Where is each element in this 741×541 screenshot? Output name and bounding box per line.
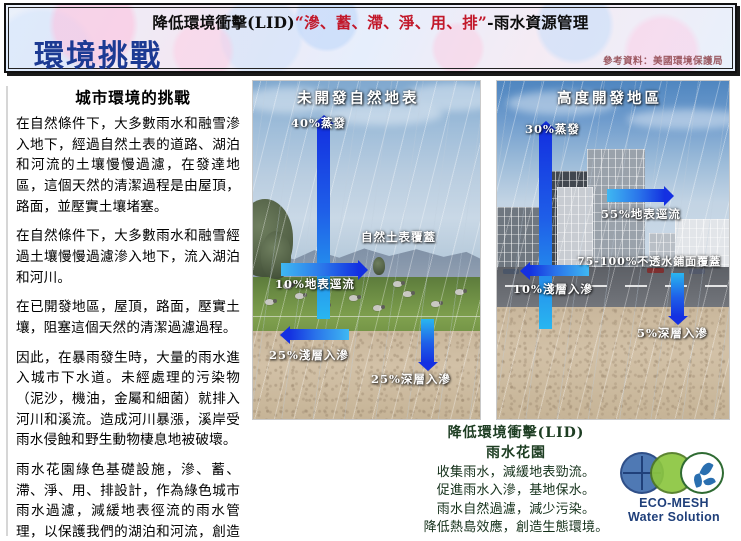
caption-heading-1: 降低環境衝擊(LID)	[398, 424, 634, 444]
surface-runoff-arrow	[607, 189, 665, 202]
panel-highly-developed-area: 高度開發地區 30%蒸發 75-100%不透水鋪面覆蓋 55%地表逕流 10%淺…	[496, 80, 730, 420]
logo-name-line-1: ECO-MESH	[615, 496, 733, 510]
caption-line: 雨水自然過濾，減少污染。	[398, 501, 634, 519]
deep-infiltration-arrow	[671, 273, 684, 317]
fence-line	[253, 316, 480, 317]
header-title: 降低環境衝擊(LID)“滲、蓄、滯、淨、用、排”-雨水資源管理	[6, 11, 735, 33]
source-note: 參考資料：美國環境保護局	[603, 53, 723, 67]
sheep	[403, 291, 412, 297]
sheep	[431, 301, 440, 307]
cloud	[627, 109, 730, 129]
logo-leaf-icon	[703, 476, 716, 487]
sheep	[455, 289, 464, 295]
caption-block: 降低環境衝擊(LID) 雨水花園 收集雨水，減緩地表勁流。 促進雨水入滲，基地保…	[398, 424, 634, 538]
header-title-part1: 降低環境衝擊(LID)	[152, 13, 295, 32]
car	[503, 269, 519, 274]
paragraph: 雨水花園綠色基礎設施，滲、蓄、滯、淨、用、排設計，作為綠色城市雨水過濾，減緩地表…	[16, 460, 240, 541]
caption-line: 促進雨水入滲，基地保水。	[398, 482, 634, 500]
lane-marking	[625, 285, 647, 287]
paragraph: 在已開發地區，屋頂，路面，壓實土壤，阻塞這個天然的清潔過濾過程。	[16, 297, 240, 338]
sheep	[265, 299, 274, 305]
caption-heading-2: 雨水花園	[398, 444, 634, 464]
header-subtitle: 環境挑戰	[34, 31, 162, 73]
left-column-heading: 城市環境的挑戰	[26, 86, 240, 108]
panel-left-ground-cover-label: 自然土表覆蓋	[361, 229, 436, 245]
left-text-column: 城市環境的挑戰 在自然條件下，大多數雨水和融雪滲入地下，經過自然土表的道路、湖泊…	[6, 86, 240, 536]
panel-undeveloped-natural-ground: 未開發自然地表 40%蒸發 自然土表覆蓋 10%地表逕流 25%淺層入滲 25%…	[252, 80, 481, 420]
header-title-red: 滲、蓄、滯、淨、用、排	[304, 13, 478, 32]
sheep	[349, 295, 358, 301]
header-title-quote-close: ”	[478, 13, 487, 32]
tree	[373, 257, 385, 275]
panel-right-deep-infiltration-label: 5%深層入滲	[637, 325, 708, 341]
lane-marking	[705, 285, 727, 287]
paragraph: 在自然條件下，大多數雨水和融雪滲入地下，經過自然土表的道路、湖泊和河流的土壤慢慢…	[16, 114, 240, 217]
panel-left-deep-infiltration-label: 25%深層入滲	[371, 371, 451, 387]
header-title-part2: -雨水資源管理	[487, 13, 589, 32]
panel-right-evaporation-label: 30%蒸發	[525, 121, 580, 137]
panel-right-runoff-label: 55%地表逕流	[601, 206, 681, 222]
car	[689, 269, 705, 274]
caption-line: 降低熱島效應，創造生態環境。	[398, 519, 634, 537]
sheep	[295, 293, 304, 299]
header-banner: 降低環境衝擊(LID)“滲、蓄、滯、淨、用、排”-雨水資源管理 環境挑戰 參考資…	[4, 3, 737, 73]
logo-white-circle-icon	[680, 452, 724, 494]
logo-name-line-2: Water Solution	[615, 510, 733, 524]
panel-left-runoff-label: 10%地表逕流	[275, 276, 355, 292]
sheep	[373, 305, 382, 311]
logo-leaf-icon	[699, 461, 714, 478]
logo-circles-icon	[620, 452, 728, 494]
paragraph: 在自然條件下，大多數雨水和融雪經過土壤慢慢過濾滲入地下，流入湖泊和河川。	[16, 226, 240, 288]
panel-left-evaporation-label: 40%蒸發	[291, 115, 346, 131]
evaporation-arrow	[539, 129, 552, 329]
shallow-infiltration-arrow	[289, 329, 349, 340]
panel-left-title: 未開發自然地表	[297, 87, 420, 108]
sheep	[393, 281, 402, 287]
header-title-quote-open: “	[295, 13, 304, 32]
paragraph: 因此，在暴雨發生時，大量的雨水進入城市下水道。未經處理的污染物（泥沙，機油，金屬…	[16, 348, 240, 451]
panel-right-shallow-infiltration-label: 10%淺層入滲	[513, 281, 593, 297]
panel-left-shallow-infiltration-label: 25%淺層入滲	[269, 347, 349, 363]
surface-runoff-arrow	[281, 263, 359, 276]
eco-mesh-logo: ECO-MESH Water Solution	[615, 452, 733, 530]
caption-line: 收集雨水，減緩地表勁流。	[398, 464, 634, 482]
deep-infiltration-arrow	[421, 319, 434, 363]
panel-right-title: 高度開發地區	[557, 87, 662, 108]
panel-right-impervious-cover-label: 75-100%不透水鋪面覆蓋	[577, 253, 721, 269]
